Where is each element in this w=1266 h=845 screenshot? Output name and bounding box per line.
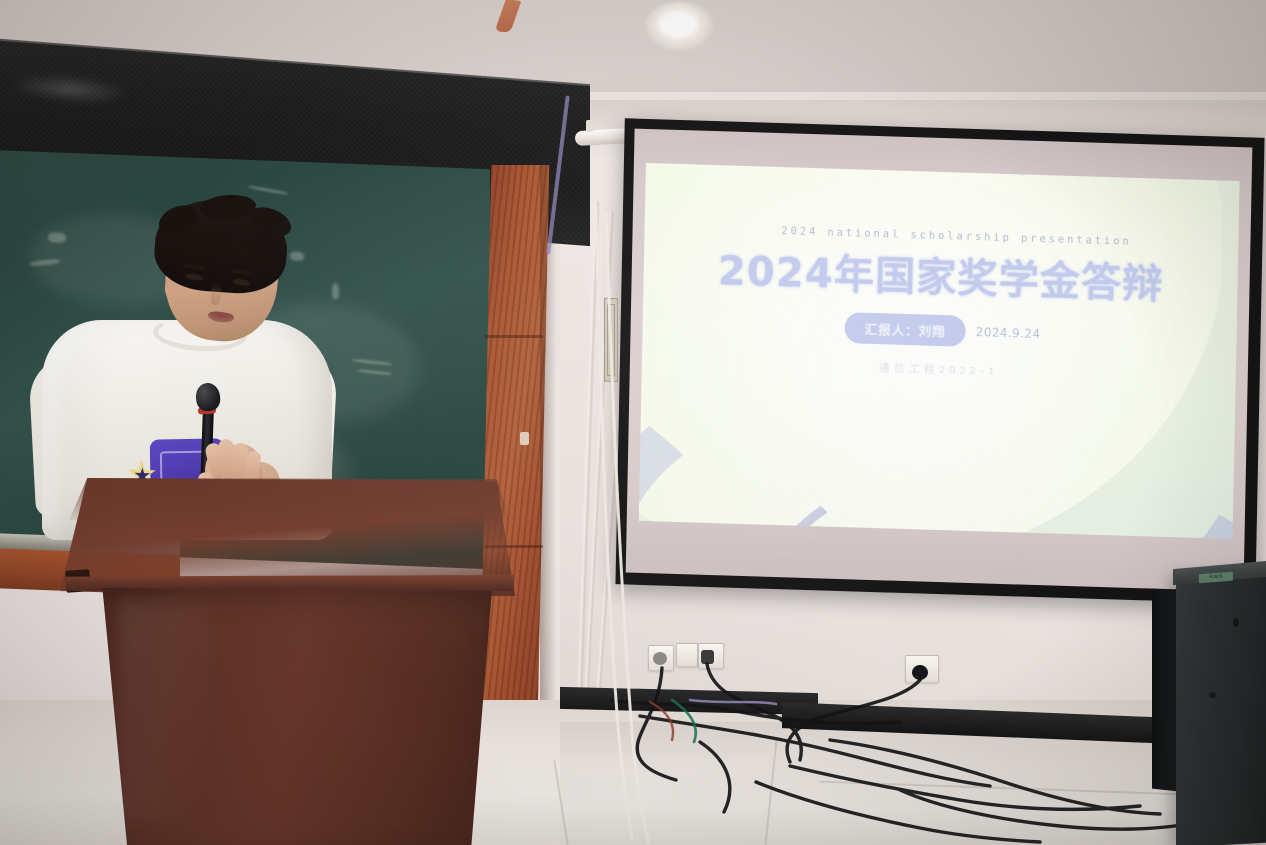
wall-switch-inner <box>607 304 615 376</box>
equipment-cabinet <box>1176 570 1266 845</box>
screen-surface: 2024 national scholarship presentation 2… <box>626 129 1253 592</box>
projected-slide: 2024 national scholarship presentation 2… <box>639 163 1240 539</box>
pillar-seam <box>485 335 543 338</box>
slide-class-line: 通信工程2022-1 <box>879 361 999 380</box>
podium-top-face <box>60 478 515 524</box>
wall-outlet-left-2[interactable] <box>676 643 698 667</box>
ceiling-light-core <box>659 12 697 36</box>
classroom-photo-scene: 2024 national scholarship presentation 2… <box>0 0 1266 845</box>
slide-text-block: 2024 national scholarship presentation 2… <box>639 163 1240 539</box>
chalk-mark <box>248 185 288 195</box>
slide-title: 2024年国家奖学金答辩 <box>717 250 1163 306</box>
cabinet-port <box>1233 618 1239 627</box>
conduit-clip <box>586 120 593 132</box>
pillar-shadow <box>540 165 556 765</box>
cabinet-port-2 <box>1209 692 1216 698</box>
plug-left-1 <box>653 652 667 665</box>
cabinet-side-panel <box>1152 589 1178 792</box>
pillar-paint-chip <box>520 432 529 445</box>
presenter-badge: 汇报人：刘翔 <box>844 312 966 347</box>
podium-highlight <box>120 600 210 820</box>
plug-right <box>912 665 928 680</box>
projector-screen: 2024 national scholarship presentation 2… <box>615 118 1264 603</box>
slide-date: 2024.9.24 <box>976 325 1041 341</box>
slide-meta-row: 汇报人：刘翔 2024.9.24 <box>844 312 1040 349</box>
presenter-person <box>20 195 340 525</box>
slide-subtitle: 2024 national scholarship presentation <box>781 225 1132 248</box>
plug-left-2 <box>701 650 714 664</box>
